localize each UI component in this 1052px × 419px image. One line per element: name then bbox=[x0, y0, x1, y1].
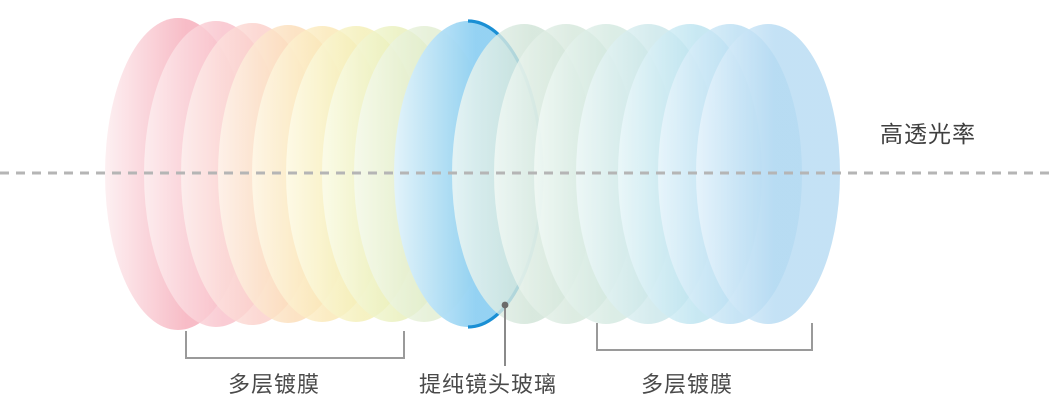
high-transmittance-label: 高透光率 bbox=[880, 124, 976, 147]
right-coating-bracket bbox=[597, 323, 812, 350]
left-coating-bracket bbox=[186, 331, 404, 358]
purified-glass-label: 提纯镜头玻璃 bbox=[419, 375, 557, 397]
lens-coating-diagram: 高透光率 多层镀膜 提纯镜头玻璃 多层镀膜 bbox=[0, 0, 1052, 419]
bracket-group bbox=[186, 323, 812, 358]
diagram-canvas bbox=[0, 0, 1052, 419]
left-coating-label: 多层镀膜 bbox=[228, 375, 320, 397]
right-coating-label: 多层镀膜 bbox=[641, 375, 733, 397]
purified-glass-pointer-head-dot bbox=[502, 302, 509, 309]
